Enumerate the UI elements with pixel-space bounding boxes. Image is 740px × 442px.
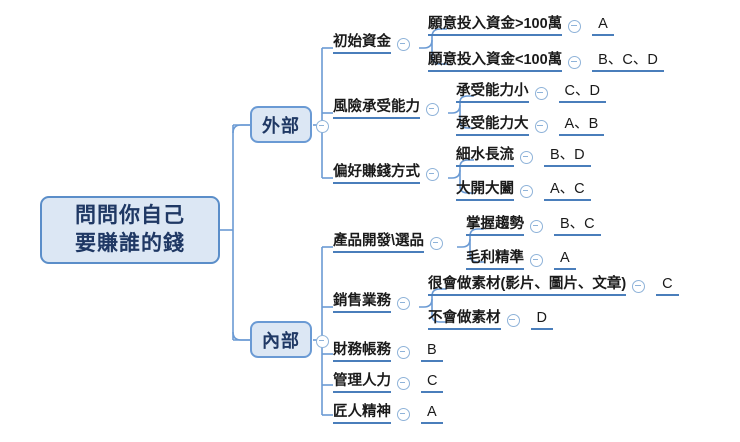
collapse-toggle-icon[interactable] (507, 314, 520, 327)
collapse-toggle-icon[interactable] (535, 120, 548, 133)
leaf-label: 願意投入資金>100萬 (428, 15, 562, 36)
topic-label: 風險承受能力 (333, 98, 420, 119)
collapse-toggle-icon-internal[interactable] (316, 335, 329, 348)
leaf-label: 承受能力大 (456, 115, 529, 136)
collapse-toggle-icon[interactable] (397, 346, 410, 359)
collapse-toggle-icon[interactable] (520, 151, 533, 164)
leaf-node-capital-over-1m[interactable]: 願意投入資金>100萬 A (428, 14, 614, 36)
collapse-toggle-icon[interactable] (397, 377, 410, 390)
leaf-label: 毛利精準 (466, 249, 524, 270)
collapse-toggle-icon[interactable] (520, 185, 533, 198)
branch-node-internal[interactable]: 內部 (250, 321, 312, 358)
branch-label-external: 外部 (262, 112, 300, 138)
leaf-label: 大開大闔 (456, 180, 514, 201)
leaf-answer: A、B (559, 115, 605, 136)
collapse-toggle-icon[interactable] (632, 280, 645, 293)
mindmap-canvas: 問問你自己 要賺誰的錢 外部 內部 初始資金 願意投入資金>100萬 A 願意投… (0, 0, 740, 442)
root-node[interactable]: 問問你自己 要賺誰的錢 (40, 196, 220, 264)
topic-node-initial-capital[interactable]: 初始資金 (333, 32, 413, 54)
collapse-toggle-icon[interactable] (426, 103, 439, 116)
branch-node-external[interactable]: 外部 (250, 106, 312, 143)
leaf-node-capital-under-1m[interactable]: 願意投入資金<100萬 B、C、D (428, 50, 664, 72)
leaf-node-risk-high[interactable]: 承受能力大 A、B (456, 114, 604, 136)
collapse-toggle-icon[interactable] (568, 56, 581, 69)
topic-answer: A (421, 403, 443, 424)
topic-node-manpower-management[interactable]: 管理人力 C (333, 371, 443, 393)
leaf-node-not-good-at-content[interactable]: 不會做素材 D (428, 308, 553, 330)
leaf-answer: A (592, 15, 614, 36)
collapse-toggle-icon[interactable] (397, 38, 410, 51)
topic-label: 偏好賺錢方式 (333, 163, 420, 184)
leaf-label: 很會做素材(影片、圖片、文章) (428, 275, 626, 296)
leaf-node-precise-margin[interactable]: 毛利精準 A (466, 248, 576, 270)
leaf-answer: C、D (559, 82, 606, 103)
collapse-toggle-icon[interactable] (430, 237, 443, 250)
collapse-toggle-icon-external[interactable] (316, 120, 329, 133)
leaf-answer: A、C (544, 180, 591, 201)
topic-node-risk-tolerance[interactable]: 風險承受能力 (333, 97, 442, 119)
leaf-answer: B、C、D (592, 51, 664, 72)
topic-label: 管理人力 (333, 372, 391, 393)
leaf-answer: B、C (554, 215, 601, 236)
collapse-toggle-icon[interactable] (530, 220, 543, 233)
topic-label: 銷售業務 (333, 292, 391, 313)
leaf-answer: A (554, 249, 576, 270)
collapse-toggle-icon[interactable] (568, 20, 581, 33)
topic-label: 初始資金 (333, 33, 391, 54)
branch-label-internal: 內部 (262, 327, 300, 353)
leaf-label: 承受能力小 (456, 82, 529, 103)
leaf-node-grasp-trends[interactable]: 掌握趨勢 B、C (466, 214, 601, 236)
leaf-label: 細水長流 (456, 146, 514, 167)
topic-label: 匠人精神 (333, 403, 391, 424)
collapse-toggle-icon[interactable] (535, 87, 548, 100)
topic-node-product-development[interactable]: 產品開發\選品 (333, 231, 446, 253)
topic-label: 財務帳務 (333, 341, 391, 362)
root-line-1: 問問你自己 (75, 202, 185, 230)
leaf-answer: D (531, 309, 553, 330)
leaf-node-bold-moves[interactable]: 大開大闔 A、C (456, 179, 591, 201)
leaf-node-good-at-content[interactable]: 很會做素材(影片、圖片、文章) C (428, 274, 679, 296)
topic-node-finance-accounting[interactable]: 財務帳務 B (333, 340, 443, 362)
topic-node-preferred-earning-style[interactable]: 偏好賺錢方式 (333, 162, 442, 184)
leaf-node-risk-low[interactable]: 承受能力小 C、D (456, 81, 606, 103)
root-line-2: 要賺誰的錢 (75, 230, 185, 258)
topic-answer: B (421, 341, 443, 362)
leaf-answer: B、D (544, 146, 591, 167)
collapse-toggle-icon[interactable] (397, 297, 410, 310)
topic-answer: C (421, 372, 443, 393)
topic-label: 產品開發\選品 (333, 232, 424, 253)
leaf-node-steady-flow[interactable]: 細水長流 B、D (456, 145, 591, 167)
leaf-label: 不會做素材 (428, 309, 501, 330)
leaf-label: 掌握趨勢 (466, 215, 524, 236)
leaf-label: 願意投入資金<100萬 (428, 51, 562, 72)
topic-node-sales[interactable]: 銷售業務 (333, 291, 413, 313)
collapse-toggle-icon[interactable] (530, 254, 543, 267)
collapse-toggle-icon[interactable] (397, 408, 410, 421)
topic-node-craftsman-spirit[interactable]: 匠人精神 A (333, 402, 443, 424)
leaf-answer: C (656, 275, 678, 296)
collapse-toggle-icon[interactable] (426, 168, 439, 181)
